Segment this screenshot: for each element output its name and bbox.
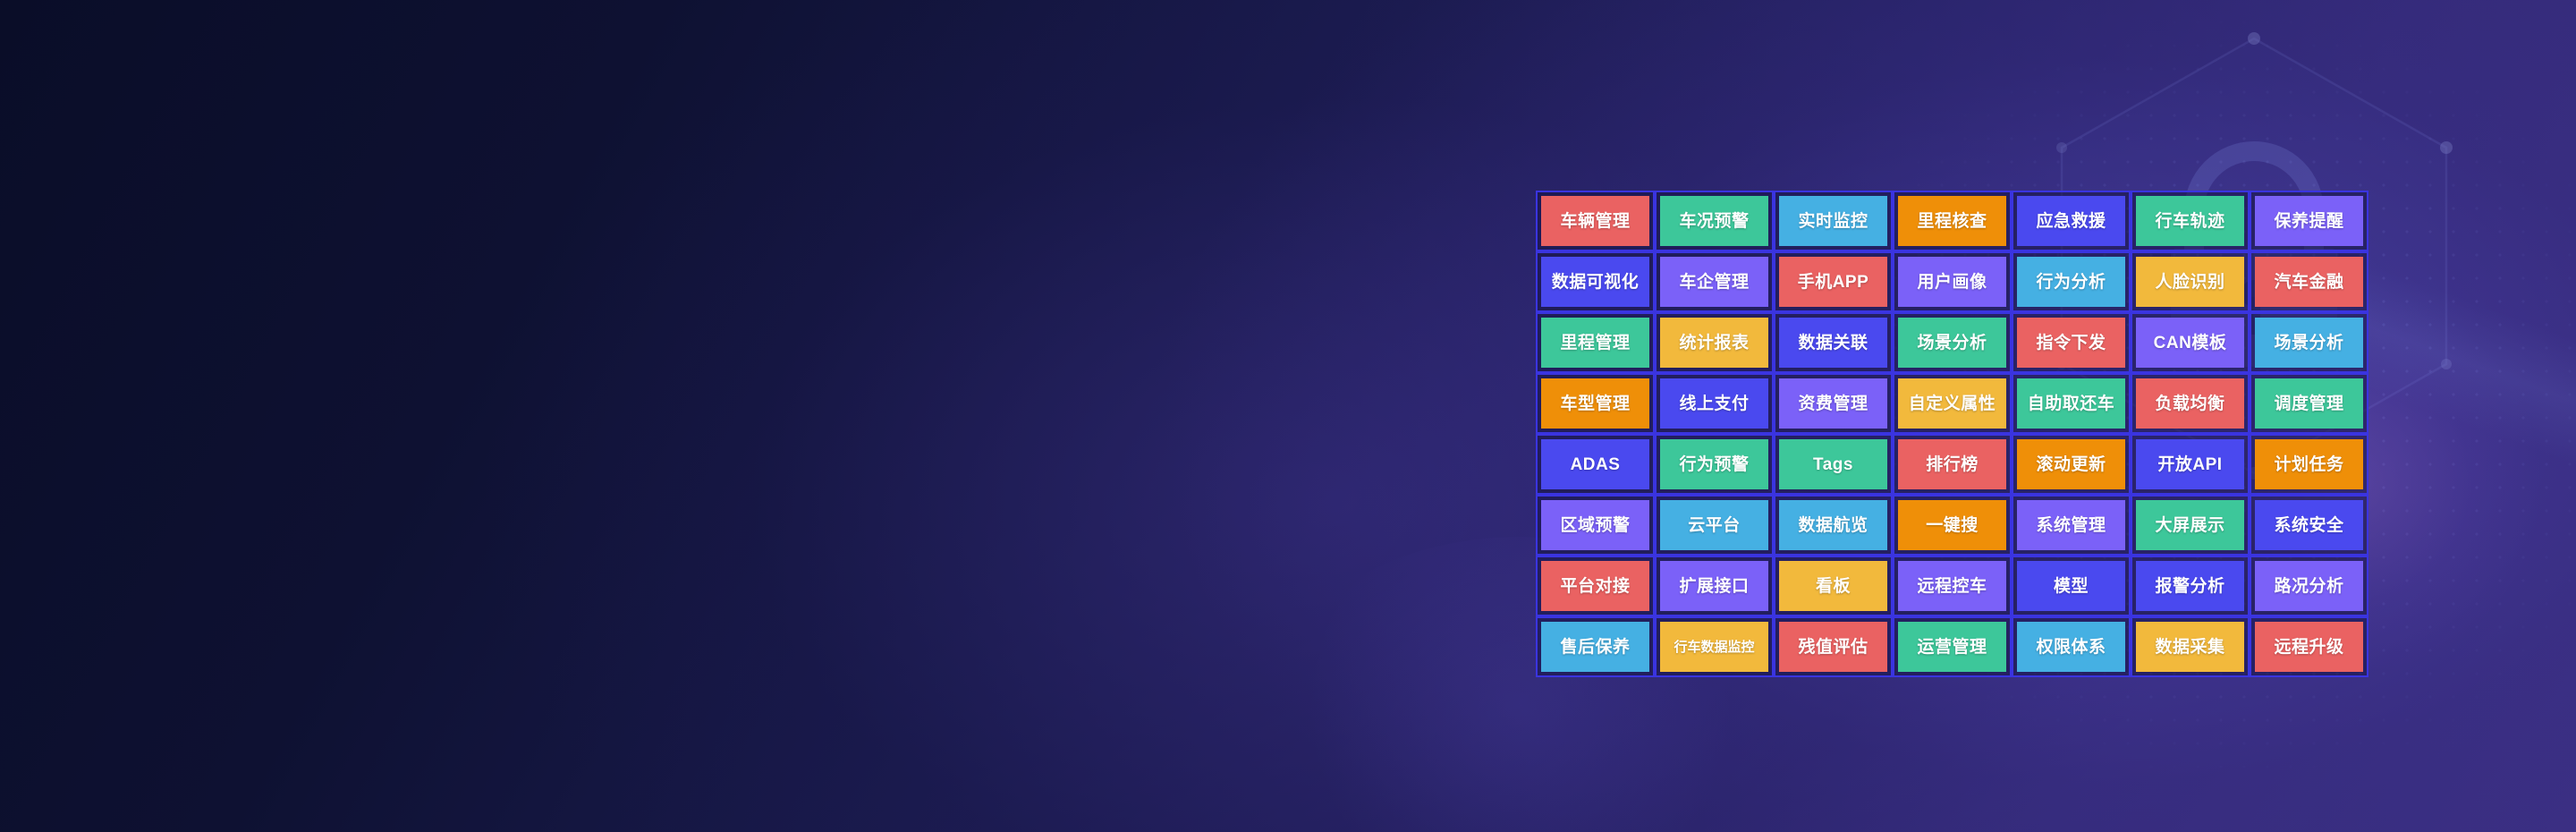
feature-tile-label: 运营管理 (1898, 622, 2006, 672)
feature-tile-label: 数据可视化 (1541, 257, 1649, 307)
feature-tile[interactable]: 扩展接口 (1655, 556, 1774, 616)
feature-tile[interactable]: 滚动更新 (2012, 434, 2131, 495)
feature-tile[interactable]: 车型管理 (1536, 373, 1655, 434)
feature-tile[interactable]: 用户画像 (1893, 251, 2012, 312)
feature-tile[interactable]: 运营管理 (1893, 616, 2012, 677)
feature-tile[interactable]: 大屏展示 (2131, 495, 2250, 556)
feature-tile-label: 场景分析 (1898, 318, 2006, 368)
feature-tile-label: 负载均衡 (2136, 378, 2244, 429)
feature-tile[interactable]: 里程管理 (1536, 312, 1655, 373)
feature-tile[interactable]: 排行榜 (1893, 434, 2012, 495)
feature-tile[interactable]: 自助取还车 (2012, 373, 2131, 434)
feature-tile-label: 车企管理 (1660, 257, 1768, 307)
feature-tile[interactable]: 看板 (1774, 556, 1893, 616)
feature-tile-label: 系统安全 (2255, 500, 2363, 550)
feature-tile[interactable]: 权限体系 (2012, 616, 2131, 677)
feature-tile-label: 手机APP (1779, 257, 1887, 307)
feature-tile-label: 行车轨迹 (2136, 196, 2244, 246)
feature-tile-label: 云平台 (1660, 500, 1768, 550)
feature-tile-label: 线上支付 (1660, 378, 1768, 429)
feature-tile[interactable]: 汽车金融 (2250, 251, 2368, 312)
feature-tile-label: 行为预警 (1660, 439, 1768, 489)
feature-tile[interactable]: 场景分析 (1893, 312, 2012, 373)
feature-tile[interactable]: 自定义属性 (1893, 373, 2012, 434)
feature-tile-grid: 车辆管理车况预警实时监控里程核查应急救援行车轨迹保养提醒数据可视化车企管理手机A… (1536, 191, 2368, 677)
feature-tile[interactable]: 行车轨迹 (2131, 191, 2250, 251)
feature-tile[interactable]: 售后保养 (1536, 616, 1655, 677)
feature-tile-label: 路况分析 (2255, 561, 2363, 611)
feature-tile-label: 行车数据监控 (1660, 622, 1768, 672)
feature-tile[interactable]: 数据航览 (1774, 495, 1893, 556)
feature-tile[interactable]: 路况分析 (2250, 556, 2368, 616)
feature-tile[interactable]: Tags (1774, 434, 1893, 495)
feature-tile[interactable]: 线上支付 (1655, 373, 1774, 434)
feature-tile[interactable]: 数据可视化 (1536, 251, 1655, 312)
feature-tile[interactable]: 手机APP (1774, 251, 1893, 312)
feature-tile[interactable]: 车辆管理 (1536, 191, 1655, 251)
feature-tile[interactable]: 模型 (2012, 556, 2131, 616)
feature-tile-label: 区域预警 (1541, 500, 1649, 550)
feature-tile[interactable]: 负载均衡 (2131, 373, 2250, 434)
feature-tile[interactable]: 实时监控 (1774, 191, 1893, 251)
feature-tile-label: 模型 (2017, 561, 2125, 611)
feature-tile[interactable]: CAN模板 (2131, 312, 2250, 373)
feature-tile-label: 里程管理 (1541, 318, 1649, 368)
feature-tile[interactable]: 应急救援 (2012, 191, 2131, 251)
screen-root: 车辆管理车况预警实时监控里程核查应急救援行车轨迹保养提醒数据可视化车企管理手机A… (0, 0, 2576, 832)
feature-tile-label: 实时监控 (1779, 196, 1887, 246)
feature-tile-label: 残值评估 (1779, 622, 1887, 672)
feature-tile-label: 滚动更新 (2017, 439, 2125, 489)
feature-tile[interactable]: 计划任务 (2250, 434, 2368, 495)
feature-tile-label: 看板 (1779, 561, 1887, 611)
feature-tile-label: 大屏展示 (2136, 500, 2244, 550)
feature-tile-label: 排行榜 (1898, 439, 2006, 489)
feature-tile-label: 车型管理 (1541, 378, 1649, 429)
feature-tile-label: 调度管理 (2255, 378, 2363, 429)
feature-tile-label: 报警分析 (2136, 561, 2244, 611)
feature-tile-label: 扩展接口 (1660, 561, 1768, 611)
feature-tile[interactable]: 行为分析 (2012, 251, 2131, 312)
feature-tile[interactable]: 资费管理 (1774, 373, 1893, 434)
feature-tile-label: ADAS (1541, 439, 1649, 489)
feature-tile[interactable]: 行车数据监控 (1655, 616, 1774, 677)
feature-tile[interactable]: 开放API (2131, 434, 2250, 495)
feature-tile-label: 应急救援 (2017, 196, 2125, 246)
feature-tile[interactable]: 行为预警 (1655, 434, 1774, 495)
feature-tile-label: 资费管理 (1779, 378, 1887, 429)
feature-tile[interactable]: 平台对接 (1536, 556, 1655, 616)
feature-tile-label: 指令下发 (2017, 318, 2125, 368)
feature-tile[interactable]: 数据采集 (2131, 616, 2250, 677)
feature-tile-label: 权限体系 (2017, 622, 2125, 672)
feature-tile-label: 场景分析 (2255, 318, 2363, 368)
feature-tile[interactable]: 云平台 (1655, 495, 1774, 556)
feature-tile[interactable]: 保养提醒 (2250, 191, 2368, 251)
feature-tile[interactable]: ADAS (1536, 434, 1655, 495)
feature-tile-label: 自定义属性 (1898, 378, 2006, 429)
feature-tile-label: 行为分析 (2017, 257, 2125, 307)
feature-tile[interactable]: 系统管理 (2012, 495, 2131, 556)
feature-tile-label: 用户画像 (1898, 257, 2006, 307)
feature-tile[interactable]: 数据关联 (1774, 312, 1893, 373)
feature-tile[interactable]: 远程控车 (1893, 556, 2012, 616)
feature-tile-label: 数据关联 (1779, 318, 1887, 368)
feature-tile[interactable]: 统计报表 (1655, 312, 1774, 373)
feature-tile[interactable]: 残值评估 (1774, 616, 1893, 677)
feature-tile[interactable]: 人脸识别 (2131, 251, 2250, 312)
feature-tile[interactable]: 车况预警 (1655, 191, 1774, 251)
feature-tile[interactable]: 区域预警 (1536, 495, 1655, 556)
feature-tile-label: 系统管理 (2017, 500, 2125, 550)
feature-tile-label: 里程核查 (1898, 196, 2006, 246)
feature-tile[interactable]: 一键搜 (1893, 495, 2012, 556)
feature-tile[interactable]: 场景分析 (2250, 312, 2368, 373)
feature-tile-label: 数据采集 (2136, 622, 2244, 672)
feature-tile[interactable]: 里程核查 (1893, 191, 2012, 251)
feature-tile-label: 计划任务 (2255, 439, 2363, 489)
feature-tile[interactable]: 指令下发 (2012, 312, 2131, 373)
feature-tile[interactable]: 远程升级 (2250, 616, 2368, 677)
feature-tile-label: 汽车金融 (2255, 257, 2363, 307)
feature-tile-label: 人脸识别 (2136, 257, 2244, 307)
feature-tile-label: 数据航览 (1779, 500, 1887, 550)
feature-tile-label: 车况预警 (1660, 196, 1768, 246)
feature-tile-label: 平台对接 (1541, 561, 1649, 611)
feature-tile-label: 自助取还车 (2017, 378, 2125, 429)
feature-tile-label: 售后保养 (1541, 622, 1649, 672)
feature-tile-label: Tags (1779, 439, 1887, 489)
feature-tile-label: CAN模板 (2136, 318, 2244, 368)
feature-tile-label: 开放API (2136, 439, 2244, 489)
feature-tile-label: 统计报表 (1660, 318, 1768, 368)
feature-tile[interactable]: 车企管理 (1655, 251, 1774, 312)
feature-tile[interactable]: 报警分析 (2131, 556, 2250, 616)
feature-tile[interactable]: 系统安全 (2250, 495, 2368, 556)
feature-tile[interactable]: 调度管理 (2250, 373, 2368, 434)
feature-tile-label: 远程升级 (2255, 622, 2363, 672)
feature-tile-label: 车辆管理 (1541, 196, 1649, 246)
feature-tile-label: 一键搜 (1898, 500, 2006, 550)
feature-tile-label: 保养提醒 (2255, 196, 2363, 246)
feature-tile-label: 远程控车 (1898, 561, 2006, 611)
